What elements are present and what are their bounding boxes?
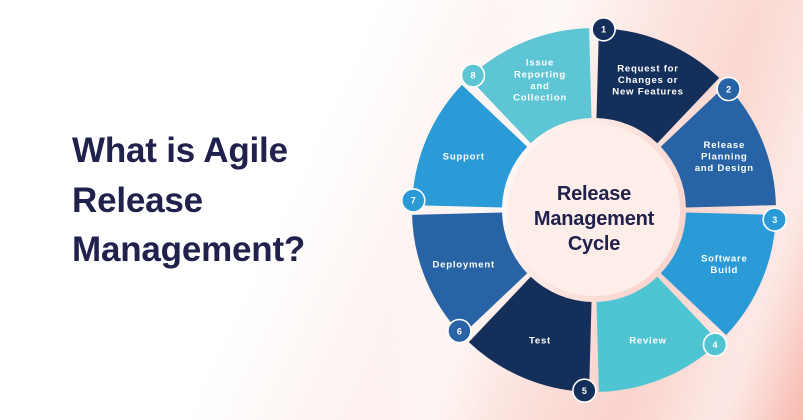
cycle-segment-label-line: Reporting bbox=[514, 69, 566, 80]
center-label-line-3: Cycle bbox=[568, 233, 620, 255]
cycle-segment-label-line: Build bbox=[710, 265, 738, 276]
cycle-segment-label-4: Review bbox=[629, 336, 667, 347]
cycle-segment-label-line: Planning bbox=[701, 151, 748, 162]
cycle-step-badge-7[interactable]: 7 bbox=[402, 189, 425, 212]
cycle-segment-label-2: ReleasePlanningand Design bbox=[695, 140, 754, 174]
cycle-segment-label-7: Support bbox=[443, 151, 485, 162]
badge-number: 3 bbox=[772, 215, 777, 225]
badge-number: 1 bbox=[601, 25, 606, 35]
cycle-step-badge-3[interactable]: 3 bbox=[763, 208, 786, 231]
badge-number: 6 bbox=[457, 326, 462, 336]
page-title-line-3: Management? bbox=[72, 225, 402, 275]
badge-number: 4 bbox=[712, 340, 717, 350]
release-management-cycle-diagram: Request for Changes or New FeaturesReque… bbox=[398, 14, 790, 406]
cycle-segment-label-line: Test bbox=[529, 336, 551, 347]
cycle-segment-label-line: Request for bbox=[617, 64, 679, 75]
cycle-segment-label-line: Release bbox=[704, 140, 746, 151]
cycle-segment-label-line: Review bbox=[629, 336, 667, 347]
banner: What is Agile Release Management? Reques… bbox=[0, 0, 803, 420]
cycle-segment-label-5: Test bbox=[529, 336, 551, 347]
cycle-segment-label-line: Software bbox=[701, 254, 748, 265]
cycle-segment-label-1: Request forChanges orNew Features bbox=[612, 64, 683, 98]
cycle-step-badge-1[interactable]: 1 bbox=[592, 18, 615, 41]
cycle-step-badge-8[interactable]: 8 bbox=[462, 64, 485, 87]
cycle-step-badge-4[interactable]: 4 bbox=[704, 333, 727, 356]
cycle-segment-label-line: Issue bbox=[526, 58, 554, 69]
badge-number: 5 bbox=[582, 386, 587, 396]
cycle-segment-label-line: Changes or bbox=[618, 75, 678, 86]
cycle-segment-label-line: Deployment bbox=[432, 259, 494, 270]
page-title-line-1: What is Agile bbox=[72, 126, 402, 176]
cycle-segment-label-line: New Features bbox=[612, 87, 683, 98]
center-label-line-1: Release bbox=[557, 183, 631, 205]
cycle-segment-label-line: and Design bbox=[695, 163, 754, 174]
cycle-segment-label-6: Deployment bbox=[432, 259, 494, 270]
cycle-segment-label-line: and bbox=[530, 81, 549, 92]
cycle-svg: Request for Changes or New FeaturesReque… bbox=[398, 14, 790, 406]
badge-number: 7 bbox=[411, 196, 416, 206]
cycle-segment-label-line: Collection bbox=[513, 93, 567, 104]
cycle-step-badge-6[interactable]: 6 bbox=[448, 320, 471, 343]
cycle-segment-label-line: Support bbox=[443, 151, 485, 162]
cycle-step-badge-2[interactable]: 2 bbox=[717, 78, 740, 101]
cycle-step-badge-5[interactable]: 5 bbox=[573, 379, 596, 402]
page-title-line-2: Release bbox=[72, 176, 402, 226]
center-label-line-2: Management bbox=[534, 208, 655, 230]
badge-number: 2 bbox=[726, 84, 731, 94]
page-title: What is Agile Release Management? bbox=[72, 126, 402, 275]
badge-number: 8 bbox=[470, 71, 475, 81]
